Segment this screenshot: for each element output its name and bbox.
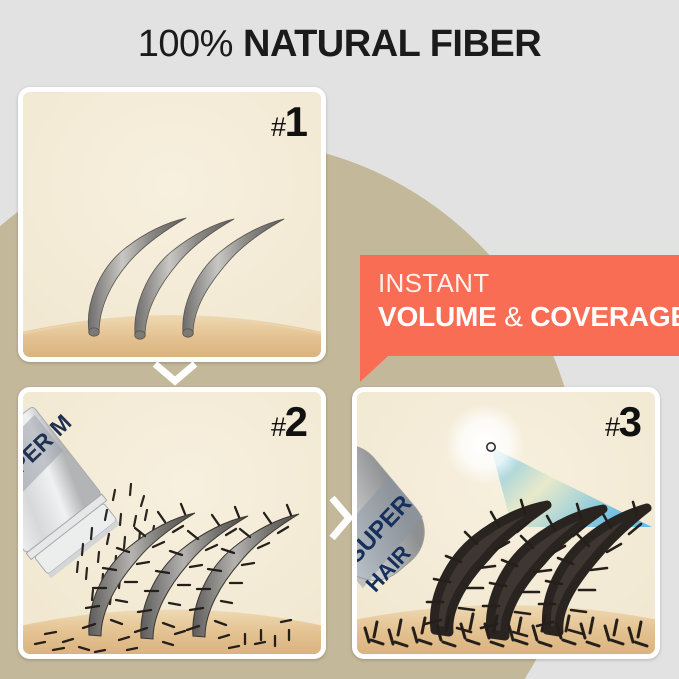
headline-prefix: 100% [138,23,233,65]
nozzle-tip [487,443,495,451]
callout-coverage: COVERAGE [530,301,679,332]
headline-emphasis: NATURAL FIBER [243,23,541,65]
chevron-down-icon [152,360,198,386]
callout-tail [360,356,388,382]
step-number: 1 [285,98,307,145]
callout-line-1: INSTANT [378,267,679,299]
callout-banner: INSTANT VOLUME & COVERAGE [360,255,679,356]
nozzle-glow [445,404,525,484]
callout-line-2: VOLUME & COVERAGE [378,299,679,335]
panel-2-number: #2 [271,398,307,446]
callout-volume: VOLUME [378,301,497,332]
hash-symbol: # [605,412,619,442]
hash-symbol: # [271,112,285,142]
step-panel-1: #1 [18,87,326,362]
infographic-root: 100% NATURAL FIBER [0,0,679,679]
chevron-right-icon [328,495,354,541]
page-title: 100% NATURAL FIBER [0,22,679,66]
step-panel-3: SUPER HAIR [352,387,660,659]
panel-3-number: #3 [605,398,641,446]
panel-1-number: #1 [271,98,307,146]
step-number: 2 [285,398,307,445]
callout-ampersand: & [504,301,522,332]
step-number: 3 [619,398,641,445]
step-panel-2: SUPER M ILLION [18,387,326,659]
hash-symbol: # [271,412,285,442]
